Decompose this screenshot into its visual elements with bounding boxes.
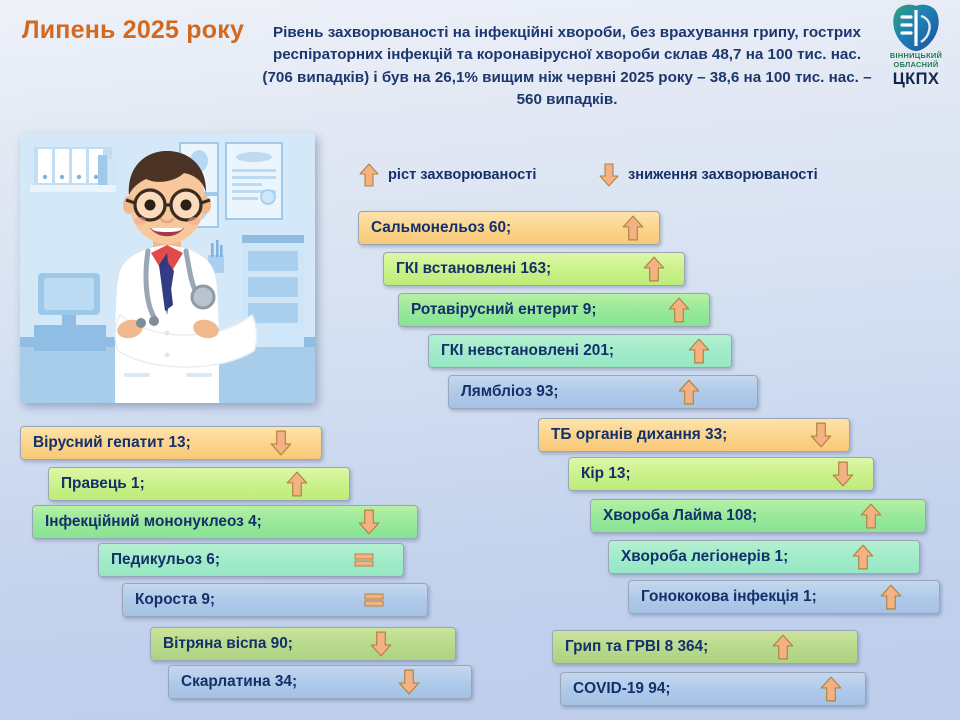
arrow-down-icon bbox=[831, 460, 855, 488]
disease-bar[interactable]: Педикульоз 6; bbox=[98, 543, 404, 577]
disease-bar[interactable]: Правець 1; bbox=[48, 467, 350, 501]
disease-bar[interactable]: Скарлатина 34; bbox=[168, 665, 472, 699]
disease-bar[interactable]: ТБ органів дихання 33; bbox=[538, 418, 850, 452]
legend-item-increase: ріст захворюваності bbox=[358, 162, 536, 188]
disease-bar[interactable]: Грип та ГРВІ 8 364; bbox=[552, 630, 858, 664]
arrow-up-icon bbox=[879, 583, 903, 611]
infographic-slide: Липень 2025 року Рівень захворюваності н… bbox=[0, 0, 960, 720]
disease-bar-label: Вітряна віспа 90; bbox=[151, 635, 293, 653]
arrow-up-icon bbox=[687, 337, 711, 365]
disease-bar[interactable]: COVID-19 94; bbox=[560, 672, 866, 706]
arrow-down-icon bbox=[357, 508, 381, 536]
disease-bar-label: Короста 9; bbox=[123, 591, 215, 609]
disease-bar[interactable]: Ротавірусний ентерит 9; bbox=[398, 293, 710, 327]
disease-bar[interactable]: Короста 9; bbox=[122, 583, 428, 617]
legend-item-decrease: зниження захворюваності bbox=[598, 162, 818, 188]
disease-bar-label: Скарлатина 34; bbox=[169, 673, 297, 691]
page-title: Липень 2025 року bbox=[22, 16, 244, 45]
disease-bar[interactable]: Вітряна віспа 90; bbox=[150, 627, 456, 661]
disease-bar-label: Інфекційний мононуклеоз 4; bbox=[33, 513, 262, 531]
arrow-up-icon bbox=[642, 255, 666, 283]
disease-bar-label: Хвороба легіонерів 1; bbox=[609, 548, 788, 566]
arrow-up-icon bbox=[285, 470, 309, 498]
disease-bar-label: Лямбліоз 93; bbox=[449, 383, 559, 401]
legend: ріст захворюваності зниження захворювано… bbox=[358, 162, 898, 194]
legend-label-increase: ріст захворюваності bbox=[388, 167, 536, 183]
logo-line-2: ОБЛАСНИЙ bbox=[876, 61, 956, 70]
disease-bar-label: ТБ органів дихання 33; bbox=[539, 426, 727, 444]
disease-bar[interactable]: ГКІ невстановлені 201; bbox=[428, 334, 732, 368]
disease-bar[interactable]: Вірусний гепатит 13; bbox=[20, 426, 322, 460]
disease-bar-label: Правець 1; bbox=[49, 475, 145, 493]
arrow-up-icon bbox=[771, 633, 795, 661]
organization-logo: ВІННИЦЬКИЙ ОБЛАСНИЙ ЦКПХ bbox=[876, 4, 956, 89]
equal-sign-icon bbox=[353, 552, 375, 568]
arrow-up-icon bbox=[851, 543, 875, 571]
arrow-up-icon bbox=[819, 675, 843, 703]
disease-bar[interactable]: Інфекційний мононуклеоз 4; bbox=[32, 505, 418, 539]
arrow-down-icon bbox=[369, 630, 393, 658]
disease-bar-label: ГКІ невстановлені 201; bbox=[429, 342, 614, 360]
disease-bar-label: Гонококова інфекція 1; bbox=[629, 588, 817, 606]
disease-bar-label: ГКІ встановлені 163; bbox=[384, 260, 551, 278]
disease-bar[interactable]: Кір 13; bbox=[568, 457, 874, 491]
arrow-up-icon bbox=[358, 162, 380, 188]
disease-bar-label: Ротавірусний ентерит 9; bbox=[399, 301, 596, 319]
disease-bar[interactable]: ГКІ встановлені 163; bbox=[383, 252, 685, 286]
legend-label-decrease: зниження захворюваності bbox=[628, 167, 818, 183]
arrow-up-icon bbox=[677, 378, 701, 406]
arrow-up-icon bbox=[621, 214, 645, 242]
doctor-illustration bbox=[20, 133, 315, 403]
disease-bar-label: Хвороба Лайма 108; bbox=[591, 507, 757, 525]
arrow-up-icon bbox=[859, 502, 883, 530]
disease-bar-label: Вірусний гепатит 13; bbox=[21, 434, 191, 452]
disease-bar[interactable]: Сальмонельоз 60; bbox=[358, 211, 660, 245]
arrow-down-icon bbox=[269, 429, 293, 457]
disease-bar[interactable]: Лямбліоз 93; bbox=[448, 375, 758, 409]
disease-bar-label: Кір 13; bbox=[569, 465, 631, 483]
disease-bar-label: Сальмонельоз 60; bbox=[359, 219, 511, 237]
disease-bar[interactable]: Гонококова інфекція 1; bbox=[628, 580, 940, 614]
arrow-down-icon bbox=[397, 668, 421, 696]
arrow-down-icon bbox=[809, 421, 833, 449]
disease-bar-label: Педикульоз 6; bbox=[99, 551, 220, 569]
disease-bar[interactable]: Хвороба Лайма 108; bbox=[590, 499, 926, 533]
logo-line-3: ЦКПХ bbox=[876, 70, 956, 89]
arrow-down-icon bbox=[598, 162, 620, 188]
equal-sign-icon bbox=[363, 592, 385, 608]
summary-paragraph: Рівень захворюваності на інфекційні хвор… bbox=[262, 22, 872, 111]
disease-bar[interactable]: Хвороба легіонерів 1; bbox=[608, 540, 920, 574]
arrow-up-icon bbox=[667, 296, 691, 324]
disease-bar-label: COVID-19 94; bbox=[561, 680, 671, 698]
disease-bar-label: Грип та ГРВІ 8 364; bbox=[553, 638, 708, 656]
shield-leaf-icon bbox=[876, 4, 956, 52]
